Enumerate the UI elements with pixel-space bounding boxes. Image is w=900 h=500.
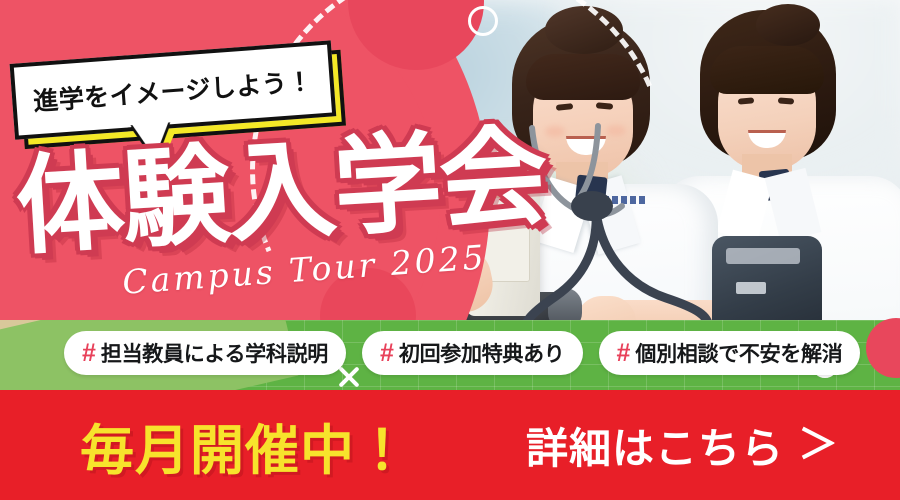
tag-pill-label: 個別相談で不安を解消 bbox=[635, 338, 842, 368]
campus-tour-banner[interactable]: 進学をイメージしよう！ 体験入学会 Campus Tour 2025 # 担当教… bbox=[0, 0, 900, 500]
hash-icon: # bbox=[380, 341, 394, 366]
cta-bar[interactable]: 毎月開催中！ 詳細はこちら ＞ bbox=[0, 390, 900, 500]
tag-pill-list: # 担当教員による学科説明 # 初回参加特典あり # 個別相談で不安を解消 bbox=[0, 325, 900, 381]
tag-pill-label: 担当教員による学科説明 bbox=[101, 338, 328, 368]
cta-headline: 毎月開催中！ bbox=[80, 406, 410, 485]
cta-link-label: 詳細はこちら bbox=[526, 415, 784, 476]
tag-pill[interactable]: # 初回参加特典あり bbox=[362, 331, 583, 375]
tag-pill[interactable]: # 担当教員による学科説明 bbox=[64, 331, 346, 375]
hash-icon: # bbox=[82, 341, 96, 366]
hash-icon: # bbox=[617, 341, 631, 366]
tag-pill[interactable]: # 個別相談で不安を解消 bbox=[599, 331, 861, 375]
tag-pill-label: 初回参加特典あり bbox=[399, 338, 565, 368]
chevron-right-icon: ＞ bbox=[798, 425, 838, 465]
ring-decoration-top bbox=[468, 6, 498, 36]
cta-link[interactable]: 詳細はこちら ＞ bbox=[526, 415, 838, 476]
